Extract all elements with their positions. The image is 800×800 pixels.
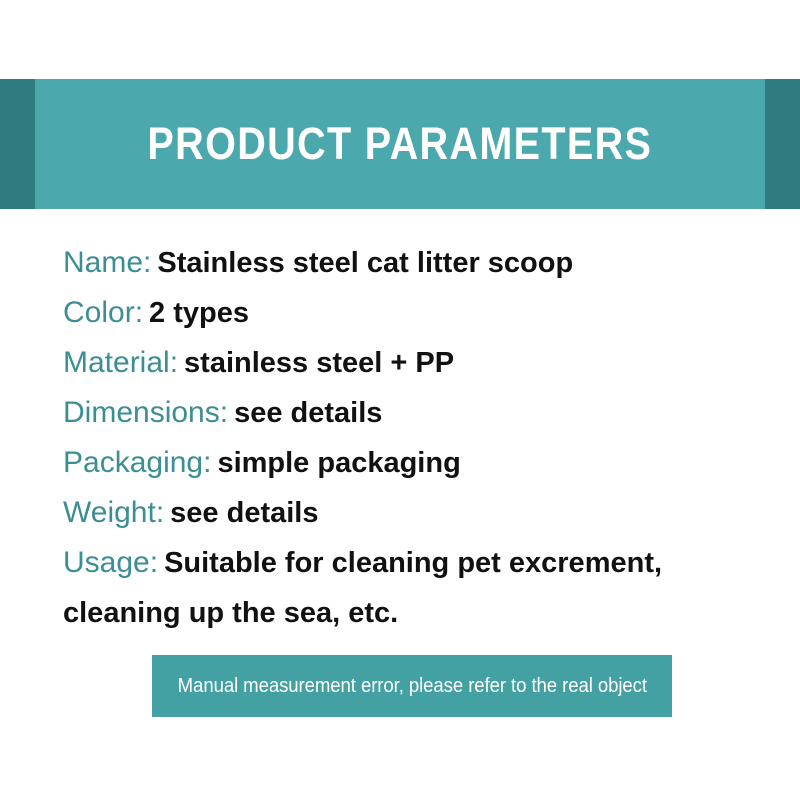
spec-row-name: Name:Stainless steel cat litter scoop — [63, 238, 778, 288]
spec-row-weight: Weight:see details — [63, 488, 778, 538]
specification-list: Name:Stainless steel cat litter scoop Co… — [63, 238, 778, 638]
spec-row-packaging: Packaging:simple packaging — [63, 438, 778, 488]
spec-row-dimensions: Dimensions:see details — [63, 388, 778, 438]
header-band: PRODUCT PARAMETERS — [0, 79, 800, 209]
spec-label-material: Material: — [63, 346, 178, 379]
spec-value-material: stainless steel + PP — [184, 347, 454, 379]
spec-row-color: Color:2 types — [63, 288, 778, 338]
spec-label-dimensions: Dimensions: — [63, 396, 228, 429]
page-title: PRODUCT PARAMETERS — [148, 121, 653, 168]
header-band-inner: PRODUCT PARAMETERS — [35, 79, 765, 209]
spec-value-packaging: simple packaging — [217, 447, 460, 479]
product-parameters-card: PRODUCT PARAMETERS Name:Stainless steel … — [0, 0, 800, 800]
spec-label-weight: Weight: — [63, 496, 164, 529]
spec-row-usage: Usage:Suitable for cleaning pet excremen… — [63, 538, 778, 588]
disclaimer-text: Manual measurement error, please refer t… — [177, 675, 646, 698]
spec-value-dimensions: see details — [234, 397, 382, 429]
spec-label-usage: Usage: — [63, 546, 158, 579]
spec-label-name: Name: — [63, 246, 151, 279]
spec-value-name: Stainless steel cat litter scoop — [157, 247, 573, 279]
spec-row-material: Material:stainless steel + PP — [63, 338, 778, 388]
spec-label-color: Color: — [63, 296, 143, 329]
spec-label-packaging: Packaging: — [63, 446, 211, 479]
disclaimer-banner: Manual measurement error, please refer t… — [152, 655, 672, 717]
spec-value-color: 2 types — [149, 297, 249, 329]
spec-value-usage: Suitable for cleaning pet excrement, — [164, 547, 662, 579]
spec-value-usage-continued: cleaning up the sea, etc. — [63, 588, 778, 638]
spec-value-weight: see details — [170, 497, 318, 529]
